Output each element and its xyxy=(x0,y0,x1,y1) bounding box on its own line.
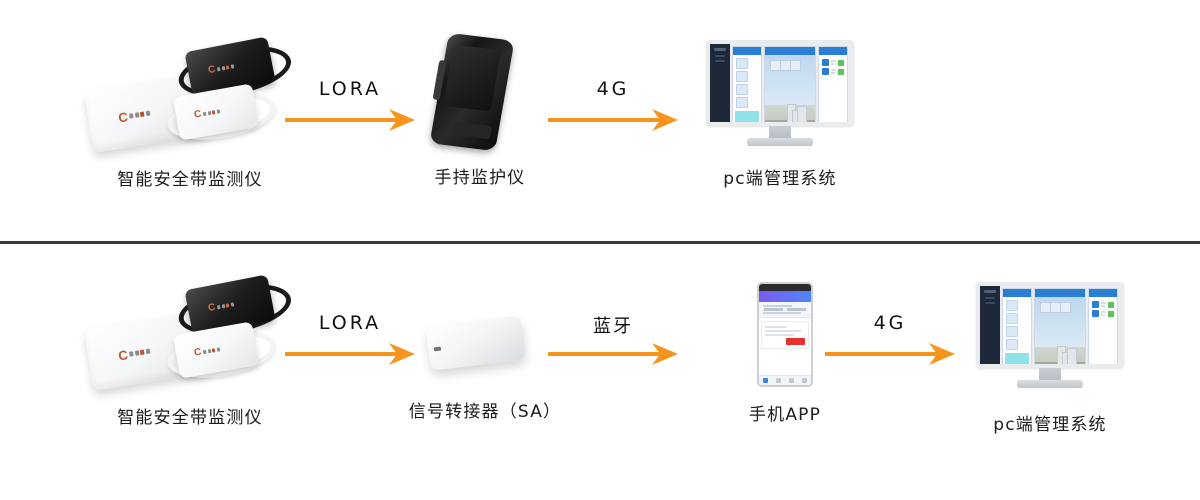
phone-statusbar xyxy=(759,284,811,291)
safety-belt-sensor-devices-icon: C C xyxy=(80,40,300,150)
signal-repeater-box-icon xyxy=(428,311,530,369)
dashboard-panel-alerts xyxy=(818,46,848,122)
rugged-handheld-terminal-icon xyxy=(439,36,505,148)
safety-belt-sensor-devices-icon: C C xyxy=(80,278,300,388)
node-pc-top: pc端管理系统 xyxy=(700,40,860,150)
arrow-label-4g-bottom: 4G xyxy=(825,312,955,334)
monitor-frame xyxy=(706,40,854,126)
dashboard-panel-left xyxy=(1002,288,1032,364)
arrow-4g-top: 4G xyxy=(548,78,678,134)
dashboard-sidebar xyxy=(710,44,730,122)
arrow-lora-bottom: LORA xyxy=(285,312,415,368)
dashboard-panel-alerts xyxy=(1088,288,1118,364)
monitor-screen xyxy=(710,44,850,122)
arrow-label-lora-bottom: LORA xyxy=(285,312,415,334)
node-label-sensor-top: 智能安全带监测仪 xyxy=(60,165,320,190)
monitor-frame xyxy=(976,282,1124,368)
node-label-pc-top: pc端管理系统 xyxy=(680,164,880,189)
arrow-4g-bottom: 4G xyxy=(825,312,955,368)
arrow-label-bluetooth-bottom: 蓝牙 xyxy=(548,312,678,338)
repeater-body xyxy=(426,315,527,370)
row-divider xyxy=(0,241,1200,244)
node-label-handheld-top: 手持监护仪 xyxy=(380,163,580,188)
node-pc-bottom: pc端管理系统 xyxy=(970,282,1130,392)
app-alert-card xyxy=(761,321,809,349)
repeater-port xyxy=(434,347,441,352)
dashboard-panel-city xyxy=(1034,288,1087,364)
monitor-screen xyxy=(980,286,1120,364)
arrow-label-lora-top: LORA xyxy=(285,78,415,100)
diagram-canvas: C C xyxy=(0,0,1200,500)
node-sensor-top: C C xyxy=(80,40,300,150)
desktop-monitor-dashboard-icon xyxy=(706,40,854,150)
city-3d-view xyxy=(765,55,816,122)
node-handheld-top: 手持监护仪 xyxy=(425,36,535,154)
arrow-lora-top: LORA xyxy=(285,78,415,134)
app-summary-panel xyxy=(759,302,811,318)
arrow-bluetooth-bottom: 蓝牙 xyxy=(548,312,678,368)
app-header xyxy=(759,291,811,302)
desktop-monitor-dashboard-icon xyxy=(976,282,1124,392)
city-3d-view xyxy=(1035,297,1086,364)
node-label-repeater: 信号转接器（SA） xyxy=(365,397,605,422)
node-repeater: 信号转接器（SA） xyxy=(425,305,545,385)
node-sensor-bottom: C C xyxy=(80,278,300,388)
arrow-label-4g-top: 4G xyxy=(548,78,678,100)
dashboard-sidebar xyxy=(980,286,1000,364)
monitor-base xyxy=(1017,380,1083,388)
node-label-phone-app: 手机APP xyxy=(695,400,875,425)
app-alert-badge xyxy=(786,338,805,345)
node-label-pc-bottom: pc端管理系统 xyxy=(950,410,1150,435)
phone-frame xyxy=(757,282,813,387)
dashboard-panel-left xyxy=(732,46,762,122)
app-tabbar xyxy=(759,375,811,385)
smartphone-app-icon xyxy=(757,282,813,387)
node-phone-app: 手机APP xyxy=(740,282,830,392)
dashboard-panel-city xyxy=(764,46,817,122)
monitor-base xyxy=(747,138,813,146)
node-label-sensor-bottom: 智能安全带监测仪 xyxy=(60,403,320,428)
phone-screen xyxy=(759,284,811,385)
